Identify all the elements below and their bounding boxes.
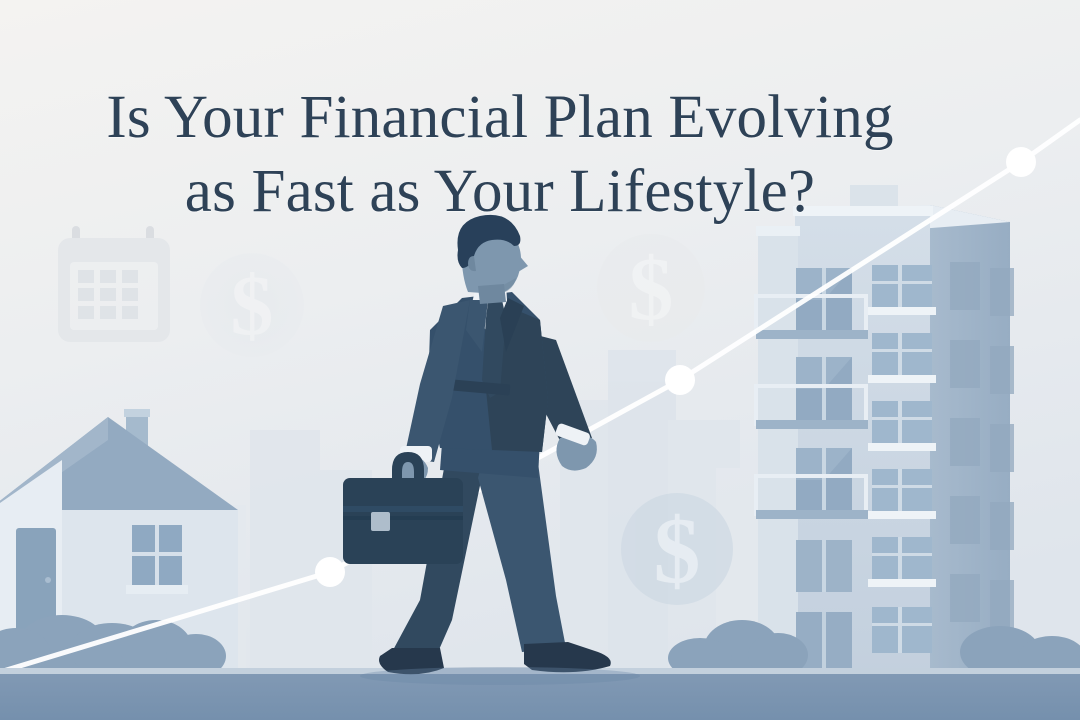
dollar-coin-icon: $ xyxy=(200,253,304,357)
illustration-canvas: $ $ $ xyxy=(0,0,1080,720)
scene-artwork: $ $ $ xyxy=(0,0,1080,720)
svg-text:$: $ xyxy=(629,240,674,339)
apartment-building xyxy=(756,185,1014,675)
calendar-icon xyxy=(58,226,170,342)
trend-node xyxy=(315,557,345,587)
dollar-coin-icon: $ xyxy=(621,493,733,605)
dollar-coin-icon: $ xyxy=(597,234,705,342)
briefcase-clasp xyxy=(371,512,390,531)
figure-shadow xyxy=(360,667,640,685)
trend-node xyxy=(1006,147,1036,177)
svg-text:$: $ xyxy=(654,499,701,603)
trend-node xyxy=(665,365,695,395)
svg-text:$: $ xyxy=(231,257,274,353)
neck xyxy=(478,284,506,304)
